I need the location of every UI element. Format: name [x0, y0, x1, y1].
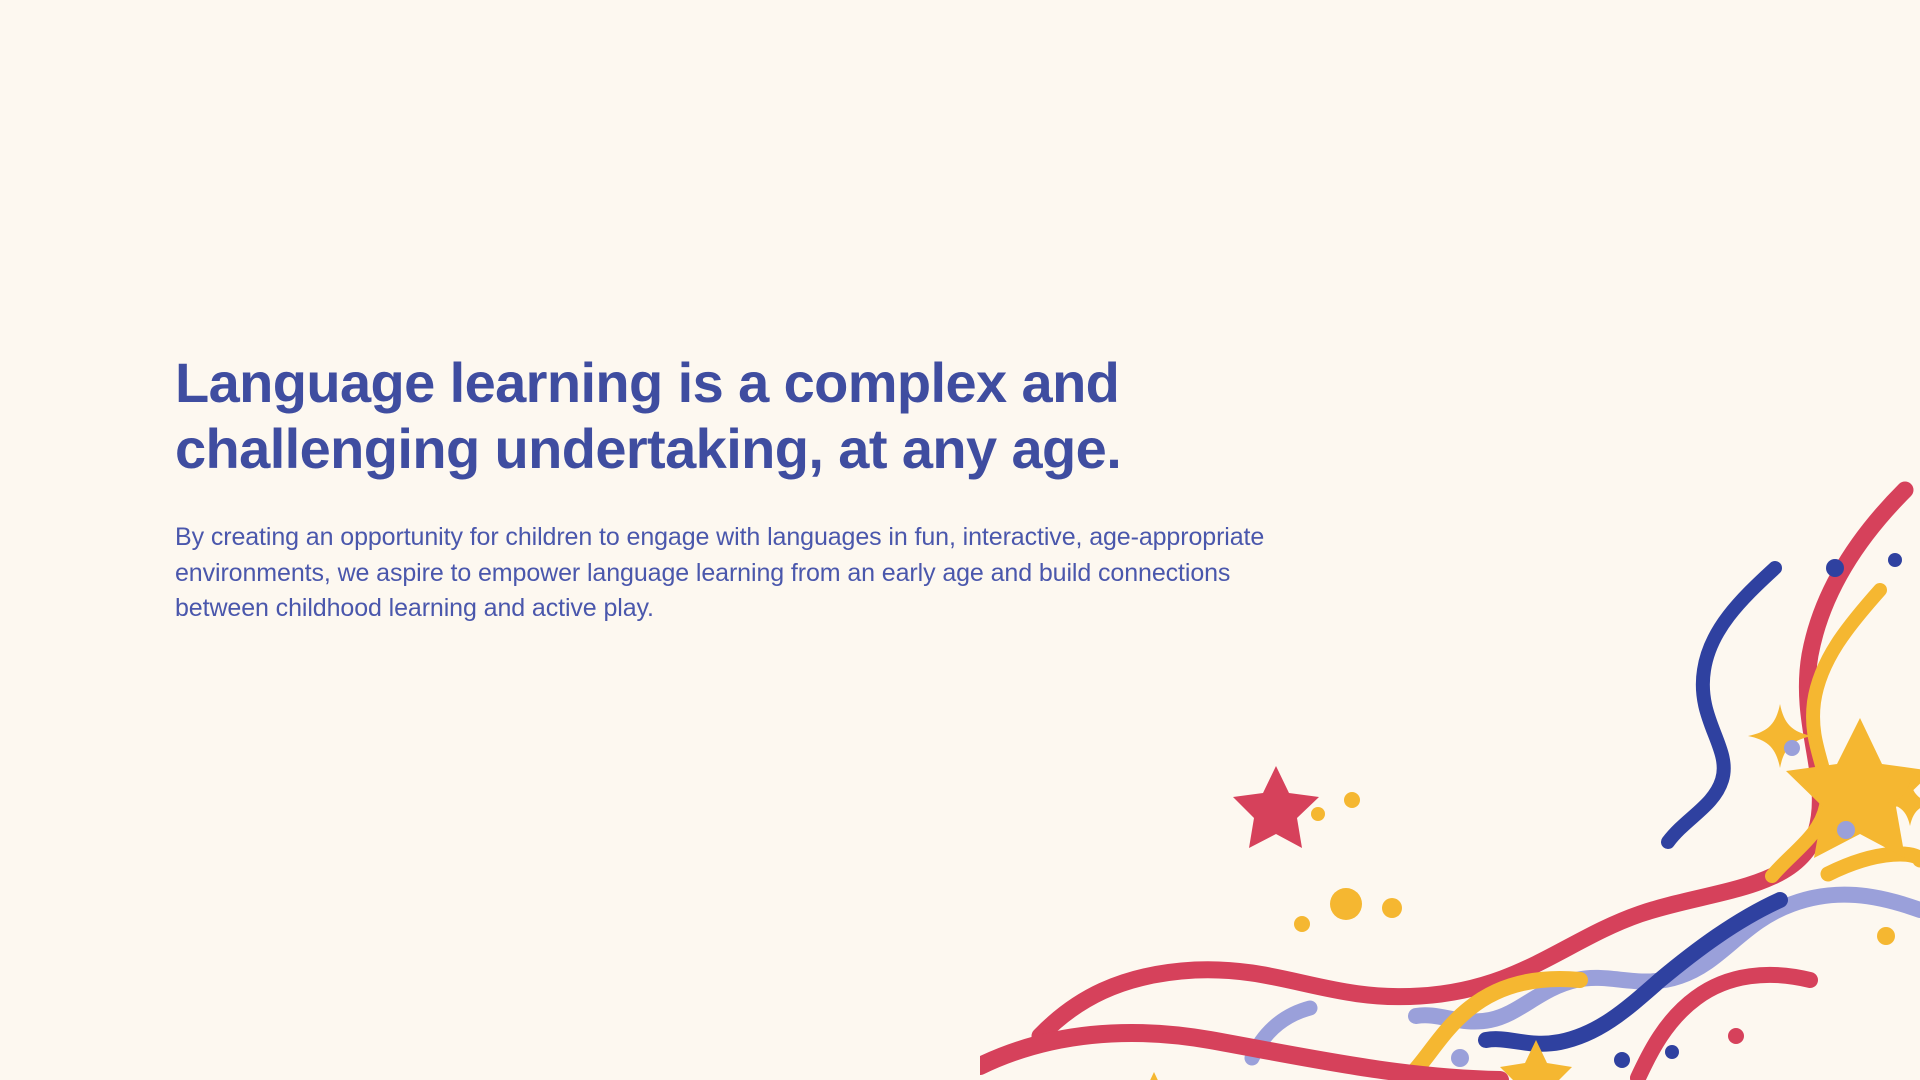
- dot-gold-3: [1877, 927, 1895, 945]
- dot-gold-med: [1382, 898, 1402, 918]
- sparkle-gold-1: [1748, 704, 1812, 768]
- dot-lavender-2: [1837, 821, 1855, 839]
- star-gold-large: [1786, 718, 1920, 858]
- dot-indigo-2: [1888, 553, 1902, 567]
- sparkle-group: [1748, 704, 1920, 826]
- ribbon-indigo-upper: [1668, 568, 1775, 842]
- star-crimson-left: [1233, 766, 1319, 848]
- dot-indigo-4: [1665, 1045, 1679, 1059]
- ribbon-gold-lower: [1410, 979, 1580, 1076]
- dot-crimson-1: [1728, 1028, 1744, 1044]
- dot-indigo-3: [1614, 1052, 1630, 1068]
- dot-gold-big: [1330, 888, 1362, 920]
- ribbon-crimson-lower: [1638, 975, 1810, 1078]
- dot-gold-sm: [1294, 916, 1310, 932]
- sparkle-gold-2: [1887, 780, 1920, 826]
- ribbon-crimson-bottom: [980, 1033, 1500, 1080]
- ribbon-lavender-main: [1416, 895, 1920, 1022]
- ribbon-gold-upper: [1772, 590, 1880, 876]
- dot-gold-2: [1344, 792, 1360, 808]
- dot-indigo-1: [1826, 559, 1844, 577]
- page-canvas: Language learning is a complex and chall…: [0, 0, 1920, 1080]
- dot-group: [1294, 553, 1902, 1068]
- ribbon-lavender-small: [1252, 1008, 1310, 1058]
- page-title: Language learning is a complex and chall…: [175, 350, 1335, 482]
- ribbon-gold-arc: [1828, 854, 1920, 874]
- dot-gold-1: [1311, 807, 1325, 821]
- dot-lavender-3: [1451, 1049, 1469, 1067]
- hero-description: By creating an opportunity for children …: [175, 520, 1325, 627]
- ribbon-indigo-lower: [1486, 900, 1780, 1044]
- dot-lavender-1: [1784, 740, 1800, 756]
- hero-text-block: Language learning is a complex and chall…: [175, 350, 1340, 627]
- star-gold-tiny-bottom: [1124, 1072, 1184, 1080]
- star-group: [1124, 718, 1920, 1080]
- star-gold-small: [1500, 1040, 1572, 1080]
